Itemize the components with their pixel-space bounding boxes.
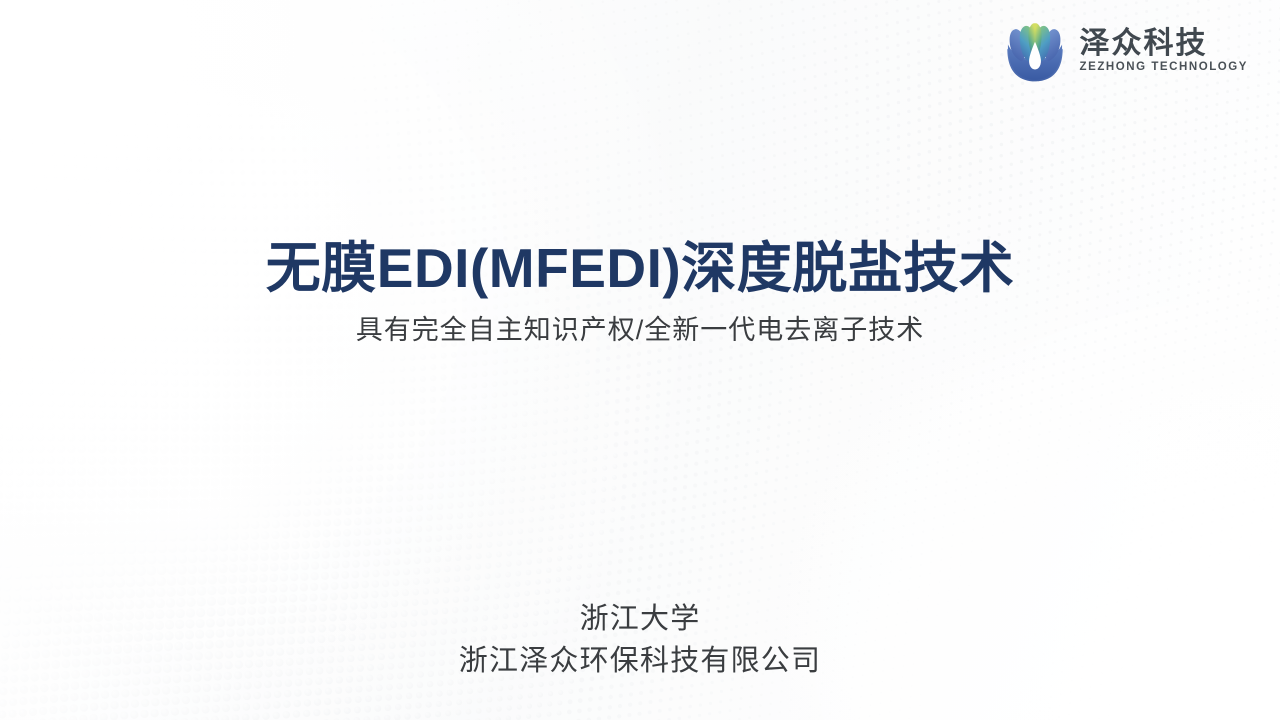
page-subtitle: 具有完全自主知识产权/全新一代电去离子技术 [0,314,1280,346]
affiliation-block: 浙江大学 浙江泽众环保科技有限公司 [0,598,1280,682]
lotus-waterdrop-logo-icon [1002,18,1068,84]
brand-name-cn: 泽众科技 [1080,28,1248,60]
title-slide: 泽众科技 ZEZHONG TECHNOLOGY 无膜EDI(MFEDI)深度脱盐… [0,0,1280,720]
brand-logo-lockup: 泽众科技 ZEZHONG TECHNOLOGY [1002,18,1248,84]
headline-block: 无膜EDI(MFEDI)深度脱盐技术 具有完全自主知识产权/全新一代电去离子技术 [0,238,1280,346]
affiliation-line-company: 浙江泽众环保科技有限公司 [0,640,1280,682]
affiliation-line-university: 浙江大学 [0,598,1280,640]
brand-name-en: ZEZHONG TECHNOLOGY [1080,61,1248,74]
page-title: 无膜EDI(MFEDI)深度脱盐技术 [0,238,1280,300]
brand-wordmark: 泽众科技 ZEZHONG TECHNOLOGY [1080,28,1248,73]
